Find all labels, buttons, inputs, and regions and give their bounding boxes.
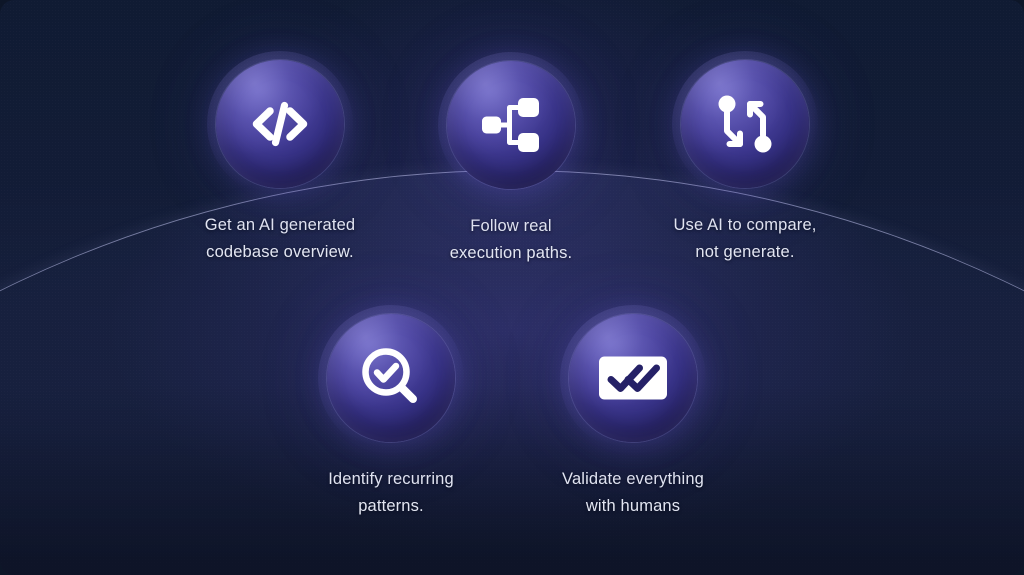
- feature-icon-orb: [447, 61, 575, 189]
- feature-card-execution-paths[interactable]: Follow real execution paths.: [406, 61, 616, 266]
- feature-caption: Identify recurring patterns.: [328, 466, 454, 519]
- feature-caption-line: patterns.: [328, 493, 454, 520]
- feature-caption: Validate everything with humans: [562, 466, 704, 519]
- feature-caption-line: Get an AI generated: [205, 212, 356, 239]
- feature-caption-line: execution paths.: [450, 240, 573, 267]
- feature-icon-orb: [216, 60, 344, 188]
- feature-caption: Get an AI generated codebase overview.: [205, 212, 356, 265]
- feature-caption-line: with humans: [562, 493, 704, 520]
- code-brackets-icon: [244, 88, 316, 160]
- sitemap-hierarchy-icon: [476, 90, 546, 160]
- feature-caption-line: Identify recurring: [328, 466, 454, 493]
- feature-caption-line: Follow real: [450, 213, 573, 240]
- feature-caption-line: not generate.: [673, 239, 816, 266]
- bottom-vignette: [0, 385, 1024, 575]
- magnifier-check-icon: [355, 342, 427, 414]
- feature-card-codebase-overview[interactable]: Get an AI generated codebase overview.: [175, 61, 385, 265]
- feature-caption-line: Validate everything: [562, 466, 704, 493]
- feature-icon-orb: [569, 314, 697, 442]
- feature-icon-orb: [327, 314, 455, 442]
- feature-caption-line: codebase overview.: [205, 239, 356, 266]
- feature-caption: Follow real execution paths.: [450, 213, 573, 266]
- double-check-card-icon: [595, 340, 671, 416]
- feature-card-recurring-patterns[interactable]: Identify recurring patterns.: [286, 314, 496, 519]
- feature-card-human-validation[interactable]: Validate everything with humans: [528, 314, 738, 519]
- feature-icon-orb: [681, 60, 809, 188]
- compare-swap-arrows-icon: [710, 89, 780, 159]
- feature-highlight-panel: Get an AI generated codebase overview. F…: [0, 0, 1024, 575]
- feature-caption: Use AI to compare, not generate.: [673, 212, 816, 265]
- feature-caption-line: Use AI to compare,: [673, 212, 816, 239]
- feature-card-ai-compare[interactable]: Use AI to compare, not generate.: [640, 61, 850, 265]
